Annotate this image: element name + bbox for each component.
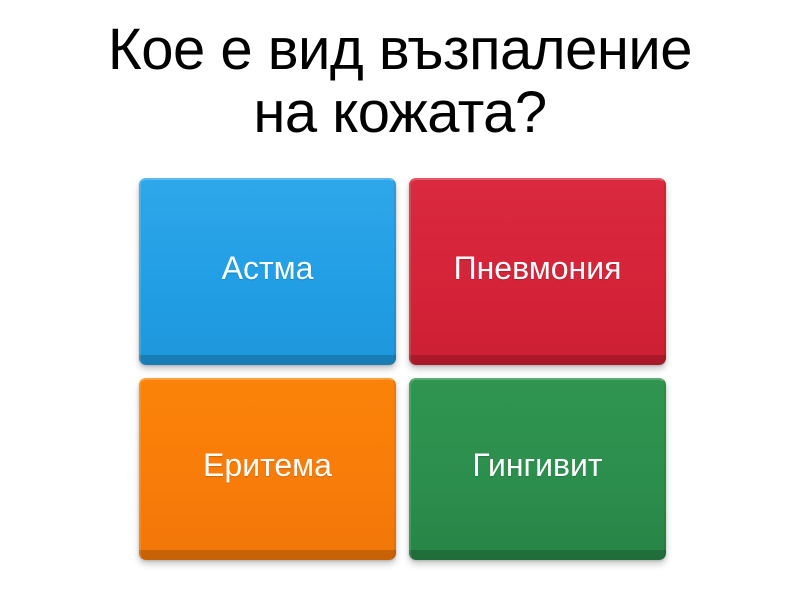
answer-tile-green[interactable]: Гингивит xyxy=(409,378,666,560)
answer-tile-orange[interactable]: Еритема xyxy=(139,378,396,560)
answer-options-grid: Астма Пневмония Еритема Гингивит xyxy=(139,178,666,560)
answer-tile-red[interactable]: Пневмония xyxy=(409,178,666,365)
question-area: Кое е вид възпаление на кожата? xyxy=(0,0,800,144)
answer-tile-blue[interactable]: Астма xyxy=(139,178,396,365)
answer-label-green: Гингивит xyxy=(462,449,612,481)
answer-label-red: Пневмония xyxy=(444,252,632,284)
answer-label-blue: Астма xyxy=(212,252,324,284)
answer-label-orange: Еритема xyxy=(193,449,342,481)
quiz-slide: Кое е вид възпаление на кожата? Астма Пн… xyxy=(0,0,800,600)
question-title: Кое е вид възпаление на кожата? xyxy=(15,18,785,144)
